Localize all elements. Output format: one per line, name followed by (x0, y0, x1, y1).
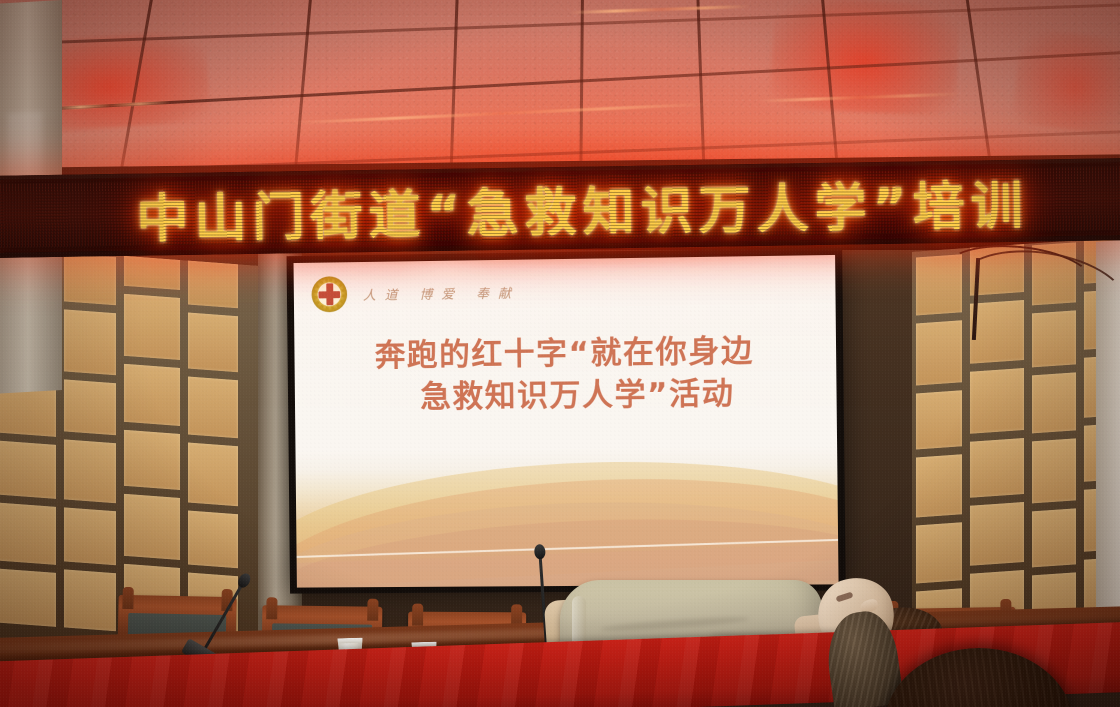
red-cross-motto: 人道 博爱 奉献 (363, 282, 520, 303)
led-banner-text: 中山门街道“急救知识万人学”培训 (0, 161, 1120, 254)
projection-screen: 人道 博爱 奉献 奔跑的红十字“就在你身边 急救知识万人学”活动 (294, 255, 839, 588)
led-banner: 中山门街道“急救知识万人学”培训 (0, 158, 1120, 258)
slide-logo-row: 人道 博爱 奉献 (311, 274, 520, 313)
ceiling-red-glow-panel (1011, 28, 1120, 136)
led-banner-frame: 中山门街道“急救知识万人学”培训 (0, 158, 1120, 258)
projection-screen-frame: 人道 博爱 奉献 奔跑的红十字“就在你身边 急救知识万人学”活动 (287, 248, 846, 594)
slide-title-line1: 奔跑的红十字“就在你身边 (294, 329, 836, 378)
slide-title: 奔跑的红十字“就在你身边 急救知识万人学”活动 (294, 329, 836, 420)
wreath-icon (313, 278, 345, 310)
training-room-photo: 人道 博爱 奉献 奔跑的红十字“就在你身边 急救知识万人学”活动 中山门街道“急… (0, 0, 1120, 707)
slide-title-line2: 急救知识万人学”活动 (295, 372, 837, 420)
red-cross-emblem-icon (311, 276, 347, 312)
